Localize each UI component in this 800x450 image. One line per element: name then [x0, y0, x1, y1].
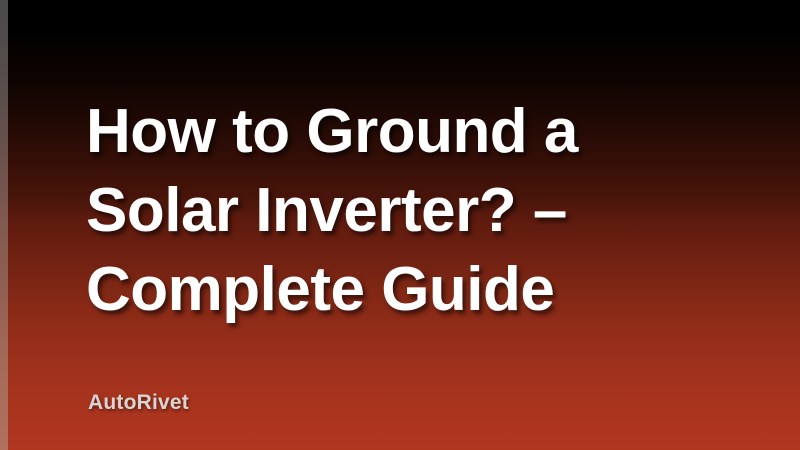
brand-wordmark: AutoRivet — [88, 391, 189, 415]
page-title: How to Ground a Solar Inverter? – Comple… — [86, 92, 746, 329]
card-content: How to Ground a Solar Inverter? – Comple… — [0, 0, 800, 450]
social-card-canvas: How to Ground a Solar Inverter? – Comple… — [0, 0, 800, 450]
